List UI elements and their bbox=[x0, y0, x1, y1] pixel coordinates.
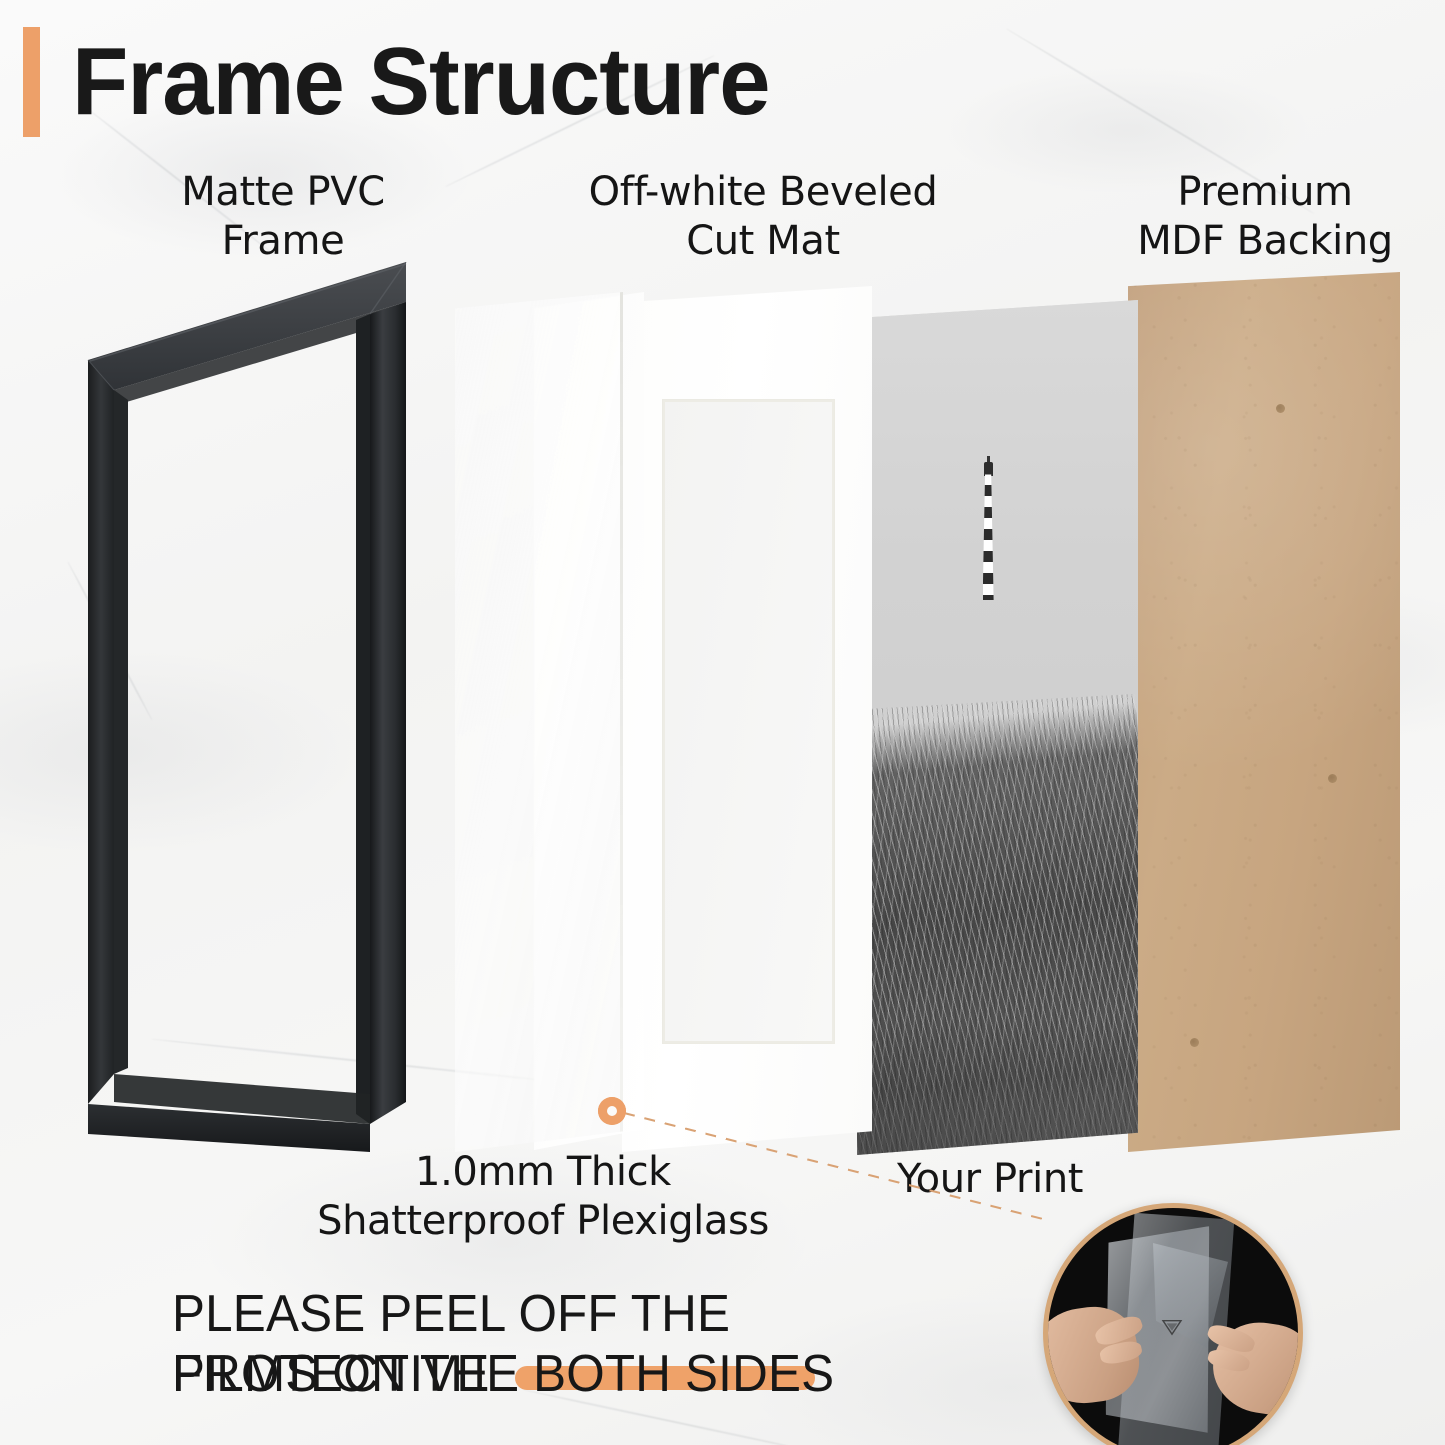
banner-line-2: FILMS ON THE BOTH SIDES bbox=[172, 1344, 970, 1404]
mdf-texture bbox=[1128, 272, 1400, 1152]
label-cut-mat: Off-white Beveled Cut Mat bbox=[568, 168, 958, 266]
mdf-fastener-dot bbox=[1328, 774, 1337, 783]
frame-left-rail bbox=[88, 360, 114, 1104]
layer-plexiglass bbox=[455, 292, 623, 1152]
layer-mdf-backing bbox=[1128, 272, 1400, 1152]
frame-right-rail bbox=[370, 302, 406, 1124]
photo-foreground bbox=[857, 1018, 1138, 1155]
label-plexiglass: 1.0mm Thick Shatterproof Plexiglass bbox=[258, 1148, 828, 1246]
connector-marker-dot bbox=[598, 1097, 626, 1125]
label-matte-pvc-frame: Matte PVC Frame bbox=[118, 168, 448, 266]
plexiglass-edge bbox=[620, 292, 623, 1152]
page-title: Frame Structure bbox=[72, 26, 770, 138]
mat-bevel-edge bbox=[662, 399, 835, 1044]
frame-left-inner bbox=[114, 390, 128, 1074]
lighthouse-lantern bbox=[984, 462, 993, 476]
layer-cut-mat bbox=[622, 286, 872, 1152]
layer-pvc-frame bbox=[80, 262, 420, 1152]
lighthouse-icon bbox=[981, 462, 996, 602]
frame-right-inner bbox=[356, 314, 370, 1124]
protective-film-inset-photo bbox=[1043, 1203, 1303, 1445]
mdf-fastener-dot bbox=[1276, 404, 1285, 413]
lighthouse-tower bbox=[983, 474, 994, 600]
label-mdf-backing: Premium MDF Backing bbox=[1095, 168, 1435, 266]
label-your-print: Your Print bbox=[860, 1155, 1120, 1204]
film-logo-icon bbox=[1161, 1318, 1183, 1336]
layer-print-photo bbox=[857, 300, 1138, 1155]
mdf-fastener-dot bbox=[1190, 1038, 1199, 1047]
infographic-canvas: Frame Structure Matte PVC Frame Off-whit… bbox=[0, 0, 1445, 1445]
title-accent-bar bbox=[23, 27, 40, 137]
